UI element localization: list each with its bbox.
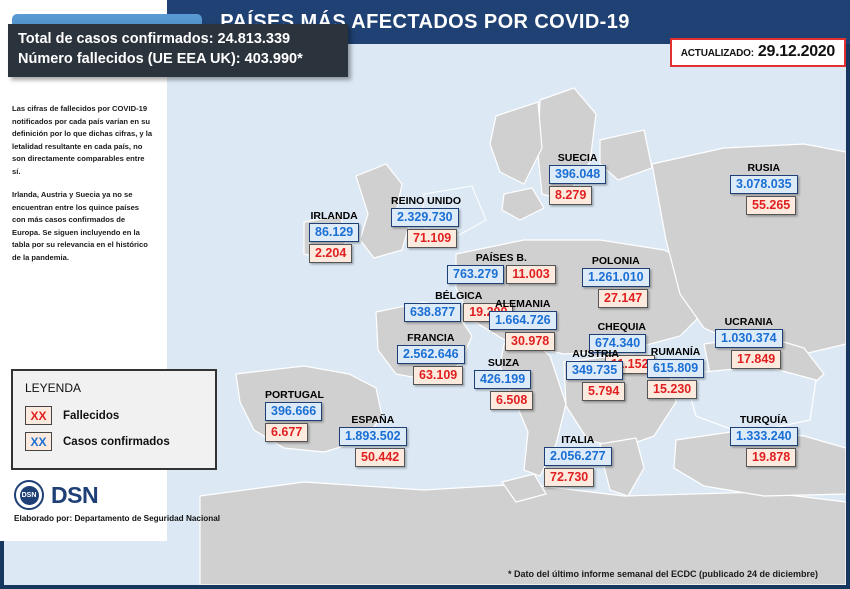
deaths-value: 50.442 xyxy=(355,448,405,467)
country-callout: IRLANDA86.1292.204 xyxy=(309,210,359,263)
row-confirmed: 349.735 xyxy=(566,361,623,380)
confirmed-cases-value: 396.048 xyxy=(549,165,606,184)
country-name: FRANCIA xyxy=(397,332,465,344)
confirmed-cases-value: 1.333.240 xyxy=(730,427,798,446)
row-confirmed: 1.333.240 xyxy=(730,427,798,446)
country-name: UCRANIA xyxy=(715,316,783,328)
country-callout: PORTUGAL396.6666.677 xyxy=(265,389,324,442)
confirmed-cases-value: 3.078.035 xyxy=(730,175,798,194)
country-callout: ALEMANIA1.664.72630.978 xyxy=(489,298,557,351)
row-confirmed: 1.030.374 xyxy=(715,329,783,348)
row-deaths: 50.442 xyxy=(355,448,405,467)
deaths-value: 11.003 xyxy=(506,265,556,284)
total-deaths-line: Número fallecidos (UE EEA UK): 403.990* xyxy=(18,50,338,70)
row-deaths: 6.508 xyxy=(490,391,533,410)
value-stack: 1.664.72630.978 xyxy=(489,311,557,351)
infographic-root: PAÍSES MÁS AFECTADOS POR COVID-19 ACTUAL… xyxy=(0,0,850,589)
row-confirmed: 615.809 xyxy=(647,359,704,378)
confirmed-cases-value: 638.877 xyxy=(404,303,461,322)
legend-row-confirmed: XX Casos confirmados xyxy=(25,432,203,451)
dsn-wordmark: DSN xyxy=(51,482,98,509)
value-stack: 86.1292.204 xyxy=(309,223,359,263)
row-deaths: 72.730 xyxy=(544,468,594,487)
row-confirmed: 396.048 xyxy=(549,165,606,184)
deaths-value: 17.849 xyxy=(731,350,781,369)
country-callout: POLONIA1.261.01027.147 xyxy=(582,255,650,308)
organization-logo: DSN DSN Elaborado por: Departamento de S… xyxy=(14,480,220,523)
deaths-value: 15.230 xyxy=(647,380,697,399)
country-name: PAÍSES B. xyxy=(447,252,556,264)
deaths-value: 71.109 xyxy=(407,229,457,248)
country-callout: TURQUÍA1.333.24019.878 xyxy=(730,414,798,467)
deaths-value: 6.677 xyxy=(265,423,308,442)
value-pair: 763.27911.003 xyxy=(447,265,556,284)
country-name: ALEMANIA xyxy=(489,298,557,310)
country-callout: SUECIA396.0488.279 xyxy=(549,152,606,205)
country-name: POLONIA xyxy=(582,255,650,267)
total-confirmed-line: Total de casos confirmados: 24.813.339 xyxy=(18,30,338,50)
country-callout: UCRANIA1.030.37417.849 xyxy=(715,316,783,369)
value-stack: 1.893.50250.442 xyxy=(339,427,407,467)
country-name: SUIZA xyxy=(474,357,533,369)
row-confirmed: 2.329.730 xyxy=(391,208,459,227)
deaths-value: 55.265 xyxy=(746,196,796,215)
row-deaths: 5.794 xyxy=(582,382,625,401)
logo-caption: Elaborado por: Departamento de Seguridad… xyxy=(14,514,220,523)
deaths-value: 30.978 xyxy=(505,332,555,351)
row-deaths: 63.109 xyxy=(413,366,463,385)
country-callout: ITALIA2.056.27772.730 xyxy=(544,434,612,487)
value-stack: 1.333.24019.878 xyxy=(730,427,798,467)
country-name: SUECIA xyxy=(549,152,606,164)
country-name: ESPAÑA xyxy=(339,414,407,426)
value-stack: 615.80915.230 xyxy=(647,359,704,399)
confirmed-cases-value: 2.056.277 xyxy=(544,447,612,466)
value-stack: 1.261.01027.147 xyxy=(582,268,650,308)
confirmed-cases-value: 2.562.646 xyxy=(397,345,465,364)
value-stack: 2.562.64663.109 xyxy=(397,345,465,385)
country-name: RUMANÍA xyxy=(647,346,704,358)
row-confirmed: 3.078.035 xyxy=(730,175,798,194)
deaths-value: 72.730 xyxy=(544,468,594,487)
deaths-value: 5.794 xyxy=(582,382,625,401)
dsn-emblem-icon: DSN xyxy=(14,480,44,510)
row-confirmed: 396.666 xyxy=(265,402,322,421)
value-stack: 426.1996.508 xyxy=(474,370,533,410)
legend-title: LEYENDA xyxy=(25,381,203,395)
disclaimer-paragraph-1: Las cifras de fallecidos por COVID-19 no… xyxy=(12,103,154,178)
disclaimer-paragraph-2: Irlanda, Austria y Suecia ya no se encue… xyxy=(12,189,154,264)
legend-swatch-deaths: XX xyxy=(25,406,52,425)
country-callout: PAÍSES B.763.27911.003 xyxy=(447,252,556,284)
deaths-value: 2.204 xyxy=(309,244,352,263)
legend-swatch-confirmed: XX xyxy=(25,432,52,451)
country-callout: FRANCIA2.562.64663.109 xyxy=(397,332,465,385)
confirmed-cases-value: 1.030.374 xyxy=(715,329,783,348)
country-name: REINO UNIDO xyxy=(391,195,461,207)
deaths-value: 19.878 xyxy=(746,448,796,467)
confirmed-cases-value: 396.666 xyxy=(265,402,322,421)
legend-row-deaths: XX Fallecidos xyxy=(25,406,203,425)
value-stack: 349.7355.794 xyxy=(566,361,625,401)
confirmed-cases-value: 1.261.010 xyxy=(582,268,650,287)
row-deaths: 15.230 xyxy=(647,380,697,399)
country-name: AUSTRIA xyxy=(566,348,625,360)
row-deaths: 6.677 xyxy=(265,423,308,442)
row-confirmed: 426.199 xyxy=(474,370,531,389)
row-confirmed: 2.562.646 xyxy=(397,345,465,364)
deaths-value: 63.109 xyxy=(413,366,463,385)
row-deaths: 71.109 xyxy=(407,229,457,248)
country-callout: AUSTRIA349.7355.794 xyxy=(566,348,625,401)
row-deaths: 19.878 xyxy=(746,448,796,467)
row-deaths: 27.147 xyxy=(598,289,648,308)
deaths-value: 8.279 xyxy=(549,186,592,205)
value-stack: 3.078.03555.265 xyxy=(730,175,798,215)
deaths-value: 6.508 xyxy=(490,391,533,410)
footnote-text: * Dato del último informe semanal del EC… xyxy=(508,569,818,579)
value-stack: 1.030.37417.849 xyxy=(715,329,783,369)
row-deaths: 17.849 xyxy=(731,350,781,369)
confirmed-cases-value: 1.893.502 xyxy=(339,427,407,446)
confirmed-cases-value: 1.664.726 xyxy=(489,311,557,330)
confirmed-cases-value: 349.735 xyxy=(566,361,623,380)
totals-summary-box: Total de casos confirmados: 24.813.339 N… xyxy=(8,24,348,77)
row-deaths: 55.265 xyxy=(746,196,796,215)
country-callout: RUSIA3.078.03555.265 xyxy=(730,162,798,215)
row-confirmed: 1.261.010 xyxy=(582,268,650,287)
country-callout: RUMANÍA615.80915.230 xyxy=(647,346,704,399)
confirmed-cases-value: 86.129 xyxy=(309,223,359,242)
confirmed-cases-value: 2.329.730 xyxy=(391,208,459,227)
country-name: TURQUÍA xyxy=(730,414,798,426)
deaths-value: 27.147 xyxy=(598,289,648,308)
confirmed-cases-value: 763.279 xyxy=(447,265,504,284)
row-deaths: 2.204 xyxy=(309,244,352,263)
value-stack: 396.0488.279 xyxy=(549,165,606,205)
country-callout: SUIZA426.1996.508 xyxy=(474,357,533,410)
country-name: PORTUGAL xyxy=(265,389,324,401)
value-stack: 396.6666.677 xyxy=(265,402,324,442)
value-stack: 2.056.27772.730 xyxy=(544,447,612,487)
updated-date-badge: ACTUALIZADO: 29.12.2020 xyxy=(670,38,846,67)
updated-date-value: 29.12.2020 xyxy=(758,43,835,61)
confirmed-cases-value: 426.199 xyxy=(474,370,531,389)
row-deaths: 8.279 xyxy=(549,186,592,205)
country-callout: REINO UNIDO2.329.73071.109 xyxy=(391,195,461,248)
dsn-emblem-inner: DSN xyxy=(20,486,39,505)
legend-label-deaths: Fallecidos xyxy=(63,410,119,422)
row-deaths: 30.978 xyxy=(505,332,555,351)
disclaimer-text: Las cifras de fallecidos por COVID-19 no… xyxy=(12,103,154,264)
row-confirmed: 1.893.502 xyxy=(339,427,407,446)
row-confirmed: 1.664.726 xyxy=(489,311,557,330)
country-name: IRLANDA xyxy=(309,210,359,222)
updated-label: ACTUALIZADO: xyxy=(681,48,754,59)
country-name: ITALIA xyxy=(544,434,612,446)
logo-row: DSN DSN xyxy=(14,480,220,510)
country-name: CHEQUIA xyxy=(589,321,655,333)
confirmed-cases-value: 615.809 xyxy=(647,359,704,378)
row-confirmed: 86.129 xyxy=(309,223,359,242)
legend-label-confirmed: Casos confirmados xyxy=(63,436,170,448)
row-confirmed: 2.056.277 xyxy=(544,447,612,466)
country-name: RUSIA xyxy=(730,162,798,174)
country-callout: ESPAÑA1.893.50250.442 xyxy=(339,414,407,467)
legend-box: LEYENDA XX Fallecidos XX Casos confirmad… xyxy=(11,369,217,470)
value-stack: 2.329.73071.109 xyxy=(391,208,461,248)
